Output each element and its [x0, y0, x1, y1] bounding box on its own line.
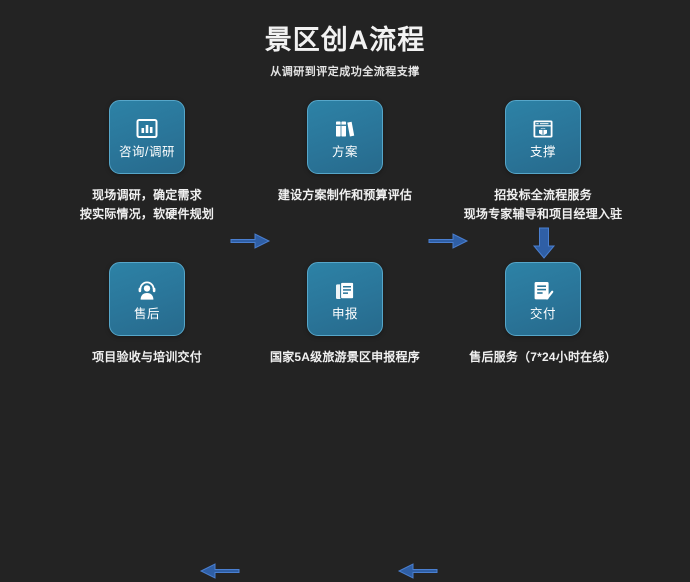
flow-card-application[interactable]: 申报: [307, 262, 383, 336]
flow-step-support[interactable]: 支撑 招投标全流程服务 现场专家辅导和项目经理入驻: [443, 100, 643, 223]
flow-card-delivery[interactable]: 交付: [505, 262, 581, 336]
flow-card-label: 咨询/调研: [119, 146, 175, 159]
flow-step-consult[interactable]: 咨询/调研 现场调研，确定需求 按实际情况，软硬件规划: [47, 100, 247, 223]
document-check-icon: [530, 278, 556, 304]
flow-row-1: 咨询/调研 现场调研，确定需求 按实际情况，软硬件规划: [0, 100, 690, 230]
header: 景区创A流程 从调研到评定成功全流程支撑: [0, 24, 690, 79]
documents-icon: [332, 278, 358, 304]
flow-step-application[interactable]: 申报 国家5A级旅游景区申报程序: [245, 262, 445, 367]
flow-row-2: 售后 项目验收与培训交付: [0, 262, 690, 392]
caption-line: 按实际情况，软硬件规划: [47, 205, 247, 224]
arrow-left-icon: [397, 560, 439, 582]
caption-line: 招投标全流程服务: [443, 186, 643, 205]
flow-step-delivery[interactable]: 交付 售后服务（7*24小时在线）: [443, 262, 643, 367]
flow-step-aftersales[interactable]: 售后 项目验收与培训交付: [47, 262, 247, 367]
caption-line: 项目验收与培训交付: [47, 348, 247, 367]
flow-card-label: 方案: [332, 146, 358, 159]
flow-caption-aftersales: 项目验收与培训交付: [47, 348, 247, 367]
bar-chart-icon: [134, 116, 160, 142]
caption-line: 建设方案制作和预算评估: [245, 186, 445, 205]
books-icon: [332, 116, 358, 142]
flow-card-consult[interactable]: 咨询/调研: [109, 100, 185, 174]
flow-diagram-page: 景区创A流程 从调研到评定成功全流程支撑 咨询/调研 现场调研，确定需求 按: [0, 0, 690, 412]
flow-card-label: 支撑: [530, 146, 556, 159]
flow-caption-consult: 现场调研，确定需求 按实际情况，软硬件规划: [47, 186, 247, 223]
flow-card-label: 申报: [332, 308, 358, 321]
flow-card-aftersales[interactable]: 售后: [109, 262, 185, 336]
flow-caption-application: 国家5A级旅游景区申报程序: [245, 348, 445, 367]
page-subtitle: 从调研到评定成功全流程支撑: [0, 63, 690, 79]
caption-line: 售后服务（7*24小时在线）: [443, 348, 643, 367]
caption-line: 现场调研，确定需求: [47, 186, 247, 205]
flow-card-label: 售后: [134, 308, 160, 321]
browser-box-icon: [530, 116, 556, 142]
flow-step-plan[interactable]: 方案 建设方案制作和预算评估: [245, 100, 445, 205]
page-title: 景区创A流程: [0, 24, 690, 56]
flow-card-plan[interactable]: 方案: [307, 100, 383, 174]
flow-caption-support: 招投标全流程服务 现场专家辅导和项目经理入驻: [443, 186, 643, 223]
flow-caption-plan: 建设方案制作和预算评估: [245, 186, 445, 205]
flow-card-label: 交付: [530, 308, 556, 321]
caption-line: 现场专家辅导和项目经理入驻: [443, 205, 643, 224]
arrow-right-icon: [229, 230, 271, 252]
flow-card-support[interactable]: 支撑: [505, 100, 581, 174]
headset-person-icon: [134, 278, 160, 304]
arrow-left-icon: [199, 560, 241, 582]
caption-line: 国家5A级旅游景区申报程序: [245, 348, 445, 367]
arrow-down-icon: [530, 226, 558, 260]
arrow-right-icon: [427, 230, 469, 252]
flow-caption-delivery: 售后服务（7*24小时在线）: [443, 348, 643, 367]
